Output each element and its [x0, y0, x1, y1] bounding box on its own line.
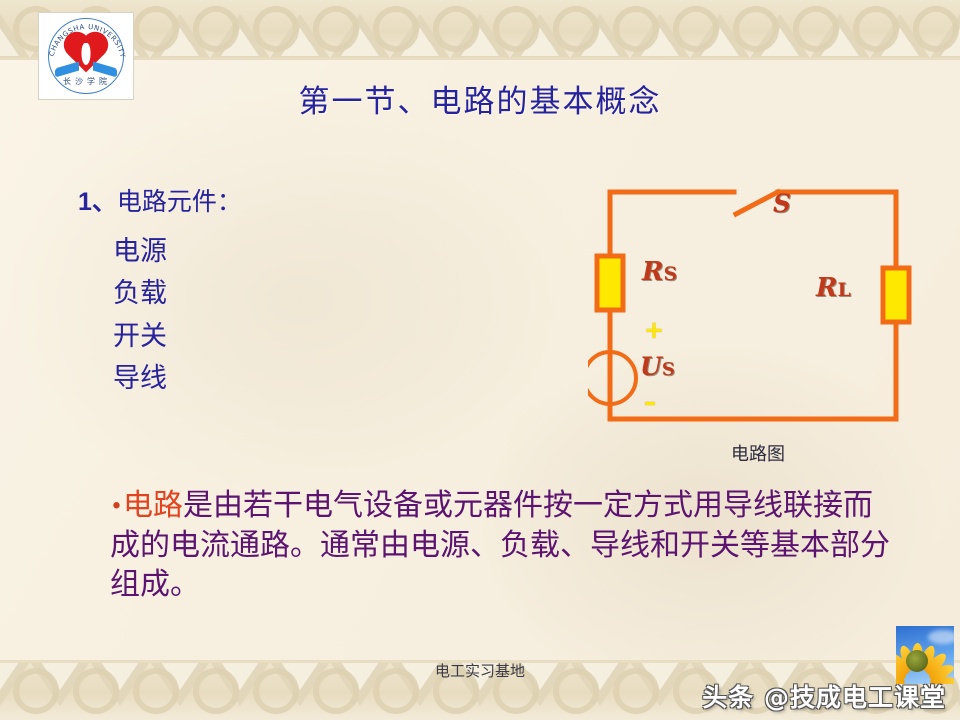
border-knot: [913, 6, 959, 52]
resistor-rl-body: [883, 268, 909, 322]
polarity-minus-sign: –: [644, 388, 656, 416]
border-knot: [613, 6, 659, 52]
logo-heart-notch: [82, 43, 91, 65]
circuit-element-list: 电源 负载 开关 导线: [113, 238, 167, 393]
list-item: 电源: [113, 238, 167, 266]
circuit-diagram: S RS RL US + –: [588, 176, 928, 466]
border-knot: [793, 6, 839, 52]
top-border-edge: [0, 57, 960, 60]
top-decorative-border: [0, 0, 960, 60]
label-load-resistor: RL: [816, 273, 851, 303]
label-voltage-source: US: [640, 352, 675, 381]
border-knot: [433, 6, 479, 52]
border-knot: [733, 6, 779, 52]
list-item: 开关: [113, 323, 167, 351]
resistor-rs-body: [597, 256, 623, 310]
definition-highlight: 电路: [123, 488, 183, 523]
label-switch: S: [773, 189, 791, 218]
sunflower-center: [906, 650, 928, 672]
switch-blade: [736, 192, 778, 214]
bullet-icon: •: [110, 494, 123, 519]
section-number: 1、: [78, 188, 117, 216]
border-knot: [493, 6, 539, 52]
watermark: 头条 @技成电工课堂: [702, 685, 946, 714]
border-knot: [313, 6, 359, 52]
border-knot: [133, 6, 179, 52]
footer-note: 电工实习基地: [0, 660, 960, 681]
watermark-text: 头条 @技成电工课堂: [702, 685, 946, 714]
border-knot: [553, 6, 599, 52]
circuit-caption: 电路图: [588, 440, 928, 466]
section-heading: 1、电路元件：: [78, 182, 242, 218]
circuit-schematic-svg: [588, 176, 928, 466]
border-knot: [373, 6, 419, 52]
border-knot: [853, 6, 899, 52]
watermark-thumbnail-sunflower-icon: [896, 626, 954, 684]
slide-canvas: CHANGSHA UNIVERSITY 长沙学院 第一节、电路的基本概念 1、电…: [0, 0, 960, 720]
slide-title: 第一节、电路的基本概念: [0, 76, 960, 121]
sunflower-petals: [896, 634, 946, 684]
definition-paragraph: •电路是由若干电气设备或元器件按一定方式用导线联接而成的电流通路。通常由电源、负…: [110, 486, 900, 605]
border-knot: [253, 6, 299, 52]
list-item: 导线: [113, 365, 167, 393]
border-knot: [193, 6, 239, 52]
definition-text: 是由若干电气设备或元器件按一定方式用导线联接而成的电流通路。通常由电源、负载、导…: [110, 488, 890, 602]
polarity-plus-sign: +: [644, 316, 664, 344]
border-knot: [673, 6, 719, 52]
label-source-resistor: RS: [642, 257, 677, 287]
section-title: 电路元件：: [117, 187, 242, 216]
list-item: 负载: [113, 280, 167, 308]
